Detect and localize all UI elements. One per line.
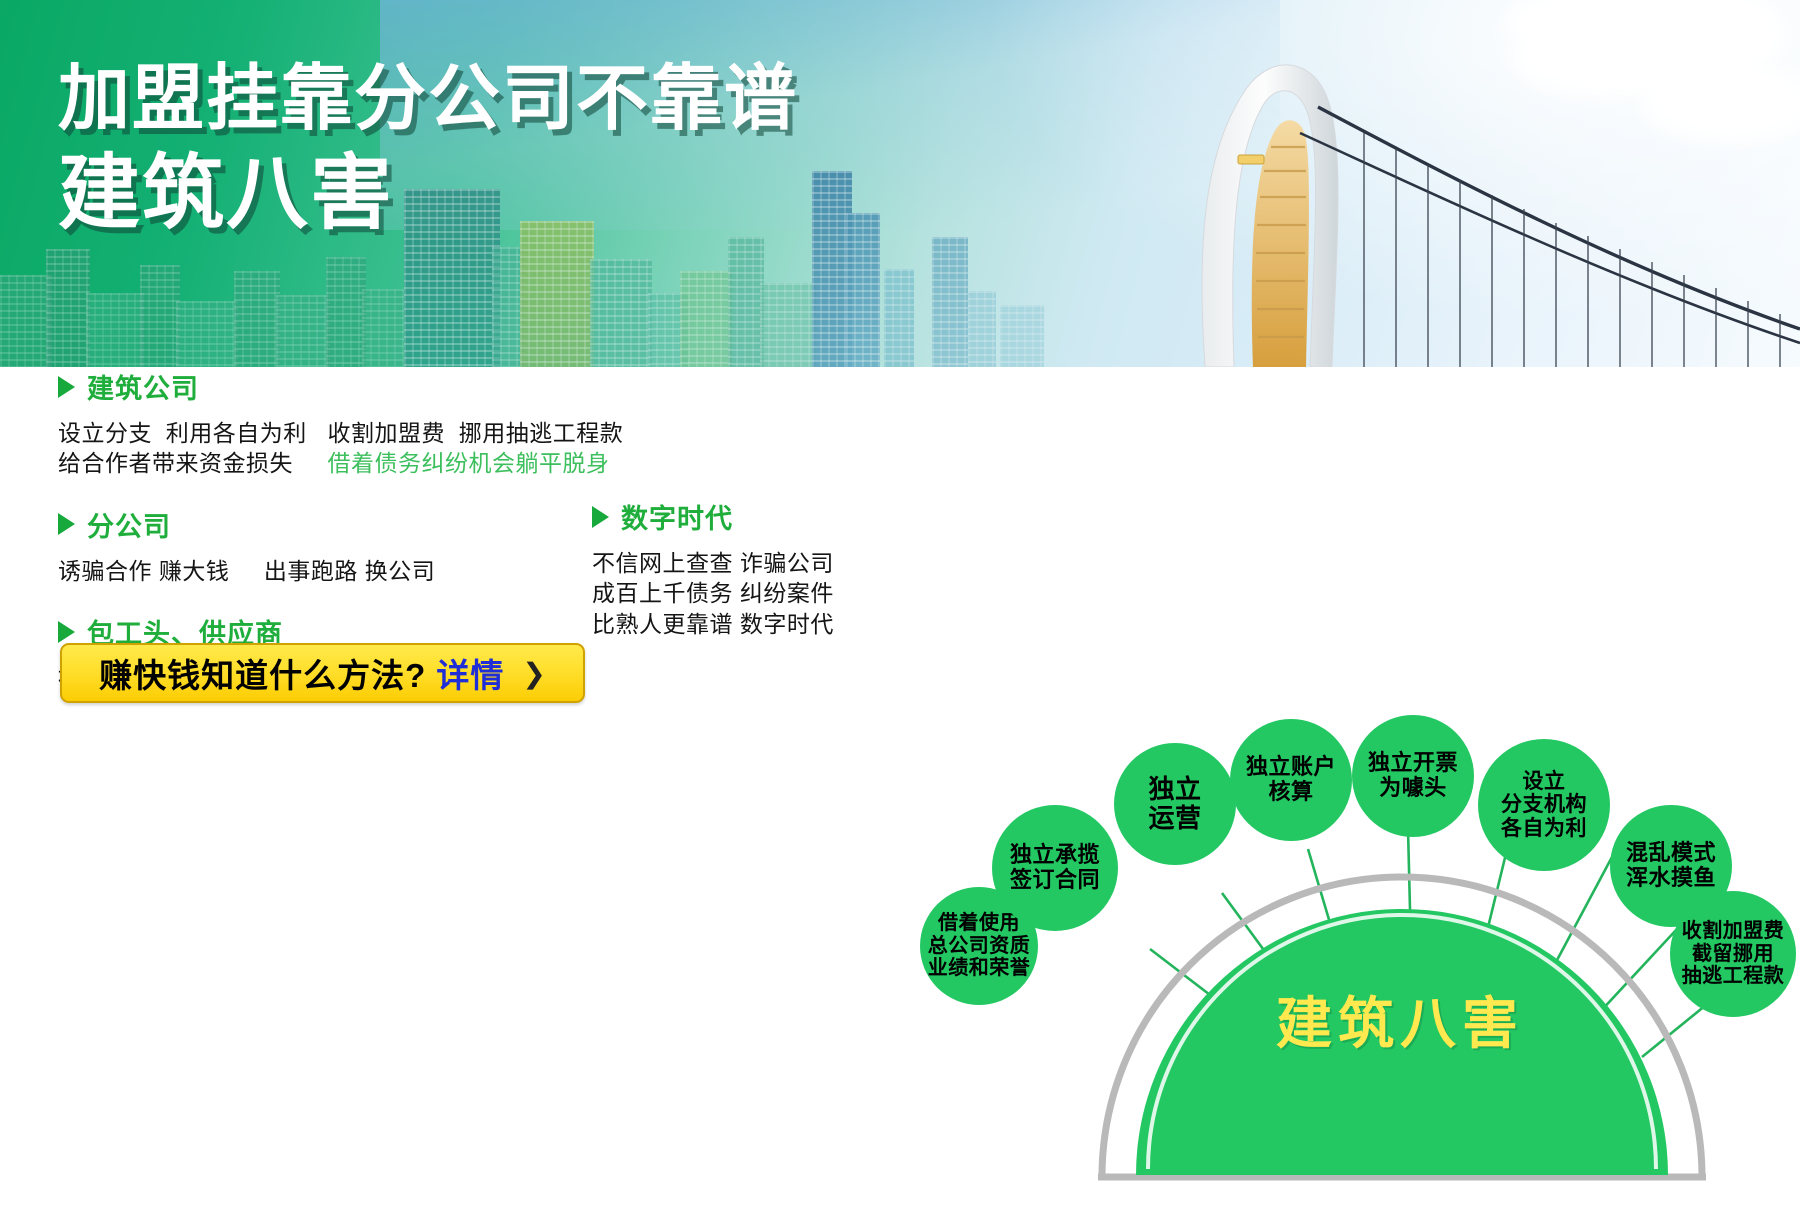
- bubble-2-line-1: 独立承揽: [1010, 843, 1100, 868]
- bubble-5[interactable]: 独立开票 为噱头: [1352, 715, 1474, 837]
- section-title: 分公司: [87, 505, 171, 544]
- bubble-1-line-2: 总公司资质: [928, 935, 1031, 957]
- cta-button[interactable]: 赚快钱知道什么方法? 详情 ❯: [60, 643, 585, 703]
- bubble-1-line-3: 业绩和荣誉: [928, 957, 1031, 979]
- bubble-4-line-1: 独立账户: [1246, 755, 1336, 780]
- chevron-right-icon: ❯: [522, 657, 545, 690]
- bubble-5-line-1: 独立开票: [1368, 751, 1458, 776]
- hero-title-line-1: 加盟挂靠分公司不靠谱: [58, 62, 798, 137]
- bubble-5-line-2: 为噱头: [1368, 776, 1458, 801]
- dome-label: 建筑八害: [1100, 979, 1700, 1060]
- bubble-4-line-2: 核算: [1246, 780, 1336, 805]
- section-line-2: 给合作者带来资金损失 借着债务纠纷机会躺平脱身: [58, 448, 838, 478]
- bubble-8-line-2: 截留挪用: [1682, 943, 1785, 965]
- bubble-6[interactable]: 设立 分支机构 各自为利: [1478, 739, 1610, 871]
- bubble-3-line-1: 独立: [1148, 775, 1201, 804]
- section-construction-company: 建筑公司 设立分支 利用各自为利 收割加盟费 挪用抽逃工程款 给合作者带来资金损…: [58, 367, 838, 479]
- bubble-8-line-1: 收割加盟费: [1682, 920, 1785, 942]
- cta-link-label[interactable]: 详情: [436, 649, 504, 697]
- digital-line-3: 比熟人更靠谱 数字时代: [592, 609, 862, 639]
- bubble-6-line-1: 设立: [1501, 770, 1587, 794]
- triangle-bullet-icon: [58, 621, 75, 643]
- bubble-8-line-3: 抽逃工程款: [1682, 965, 1785, 987]
- balloon-diagram: 建筑八害 借着使用 总公司资质 业绩和荣誉 独立承揽 签订合同 独立 运营 独立…: [900, 697, 1800, 1211]
- section-title: 建筑公司: [87, 367, 199, 406]
- bubble-4[interactable]: 独立账户 核算: [1230, 719, 1352, 841]
- hero-title-line-2: 建筑八害: [58, 151, 798, 236]
- triangle-bullet-icon: [58, 376, 75, 398]
- bubble-7-line-1: 混乱模式: [1626, 841, 1716, 866]
- section-line-1: 设立分支 利用各自为利 收割加盟费 挪用抽逃工程款: [58, 418, 838, 448]
- triangle-bullet-icon: [58, 513, 75, 535]
- content-area: 建筑公司 设立分支 利用各自为利 收割加盟费 挪用抽逃工程款 给合作者带来资金损…: [0, 367, 1800, 844]
- bubble-2-line-2: 签订合同: [1010, 868, 1100, 893]
- bubble-3-line-2: 运营: [1148, 804, 1201, 833]
- bubble-8[interactable]: 收割加盟费 截留挪用 抽逃工程款: [1670, 891, 1796, 1017]
- digital-line-2: 成百上千债务 纠纷案件: [592, 578, 862, 608]
- triangle-bullet-icon: [592, 506, 609, 528]
- cta-main-label: 赚快钱知道什么方法?: [99, 649, 426, 697]
- bubble-7-line-2: 浑水摸鱼: [1626, 866, 1716, 891]
- digital-line-1: 不信网上查查 诈骗公司: [592, 548, 862, 578]
- bubble-6-line-3: 各自为利: [1501, 817, 1587, 841]
- hero-title-group: 加盟挂靠分公司不靠谱 建筑八害: [58, 62, 798, 236]
- section-digital-era: 数字时代 不信网上查查 诈骗公司 成百上千债务 纠纷案件 比熟人更靠谱 数字时代: [592, 497, 862, 639]
- bubble-6-line-2: 分支机构: [1501, 793, 1587, 817]
- bubble-3[interactable]: 独立 运营: [1114, 743, 1236, 865]
- hero-banner: 加盟挂靠分公司不靠谱 建筑八害: [0, 0, 1800, 367]
- bubble-2[interactable]: 独立承揽 签订合同: [992, 805, 1118, 931]
- section-title: 数字时代: [621, 497, 733, 536]
- bridge-illustration: [1150, 37, 1800, 367]
- section-line-2-black: 给合作者带来资金损失: [58, 450, 327, 476]
- section-line-2-green: 借着债务纠纷机会躺平脱身: [327, 450, 609, 476]
- section-header: 数字时代: [592, 497, 862, 536]
- section-header: 建筑公司: [58, 367, 838, 406]
